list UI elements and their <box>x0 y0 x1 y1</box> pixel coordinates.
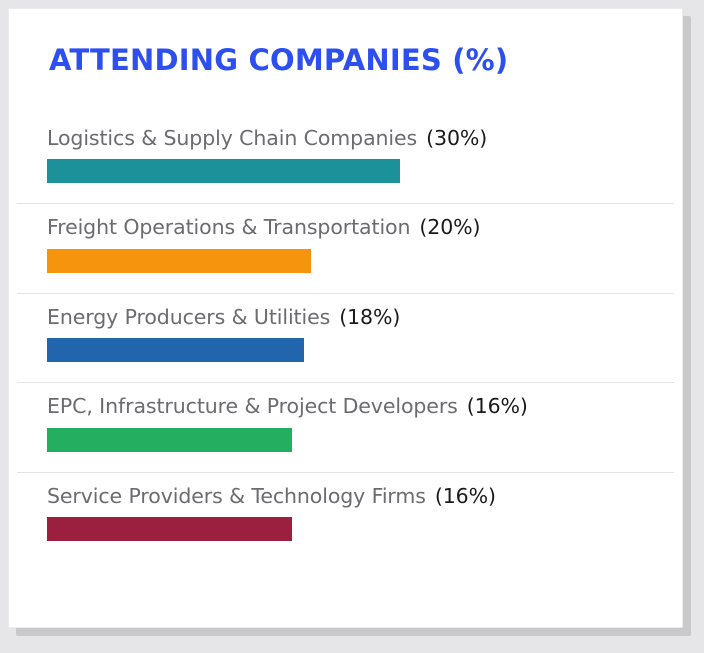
bar-chart-row: Energy Producers & Utilities(18%) <box>9 294 682 383</box>
bar-track <box>47 249 667 273</box>
bar-category-label: Service Providers & Technology Firms <box>47 484 426 508</box>
bar-row-content: Service Providers & Technology Firms(16%… <box>47 473 682 562</box>
bar-category-label: Logistics & Supply Chain Companies <box>47 126 417 150</box>
bar-row-content: EPC, Infrastructure & Project Developers… <box>47 383 682 472</box>
bar-track <box>47 159 667 183</box>
bar-label-line: Service Providers & Technology Firms(16%… <box>47 486 682 507</box>
bar-chart-row: EPC, Infrastructure & Project Developers… <box>9 383 682 472</box>
bar-value-label: (18%) <box>339 305 400 329</box>
bar-fill <box>47 428 292 452</box>
bar-value-label: (16%) <box>435 484 496 508</box>
bar-row-content: Freight Operations & Transportation(20%) <box>47 204 682 293</box>
bar-value-label: (20%) <box>419 215 480 239</box>
bar-fill <box>47 249 311 273</box>
bar-value-label: (30%) <box>426 126 487 150</box>
bar-track <box>47 517 667 541</box>
bar-label-line: Energy Producers & Utilities(18%) <box>47 307 682 328</box>
bar-chart-row: Logistics & Supply Chain Companies(30%) <box>9 115 682 204</box>
page-title: ATTENDING COMPANIES (%) <box>49 45 682 77</box>
bar-category-label: Freight Operations & Transportation <box>47 215 410 239</box>
bar-label-line: Logistics & Supply Chain Companies(30%) <box>47 128 682 149</box>
bar-chart-rows: Logistics & Supply Chain Companies(30%)F… <box>9 115 682 562</box>
bar-track <box>47 338 667 362</box>
bar-category-label: EPC, Infrastructure & Project Developers <box>47 394 458 418</box>
bar-label-line: Freight Operations & Transportation(20%) <box>47 217 682 238</box>
bar-category-label: Energy Producers & Utilities <box>47 305 330 329</box>
bar-chart-row: Freight Operations & Transportation(20%) <box>9 204 682 293</box>
chart-stage: ATTENDING COMPANIES (%) Logistics & Supp… <box>0 0 704 653</box>
chart-card-inner: ATTENDING COMPANIES (%) Logistics & Supp… <box>9 9 682 561</box>
bar-fill <box>47 338 304 362</box>
chart-card: ATTENDING COMPANIES (%) Logistics & Supp… <box>8 8 683 628</box>
bar-fill <box>47 159 400 183</box>
bar-row-content: Energy Producers & Utilities(18%) <box>47 294 682 383</box>
bar-fill <box>47 517 292 541</box>
bar-value-label: (16%) <box>467 394 528 418</box>
bar-track <box>47 428 667 452</box>
bar-label-line: EPC, Infrastructure & Project Developers… <box>47 396 682 417</box>
bar-chart-row: Service Providers & Technology Firms(16%… <box>9 473 682 562</box>
bar-row-content: Logistics & Supply Chain Companies(30%) <box>47 115 682 204</box>
